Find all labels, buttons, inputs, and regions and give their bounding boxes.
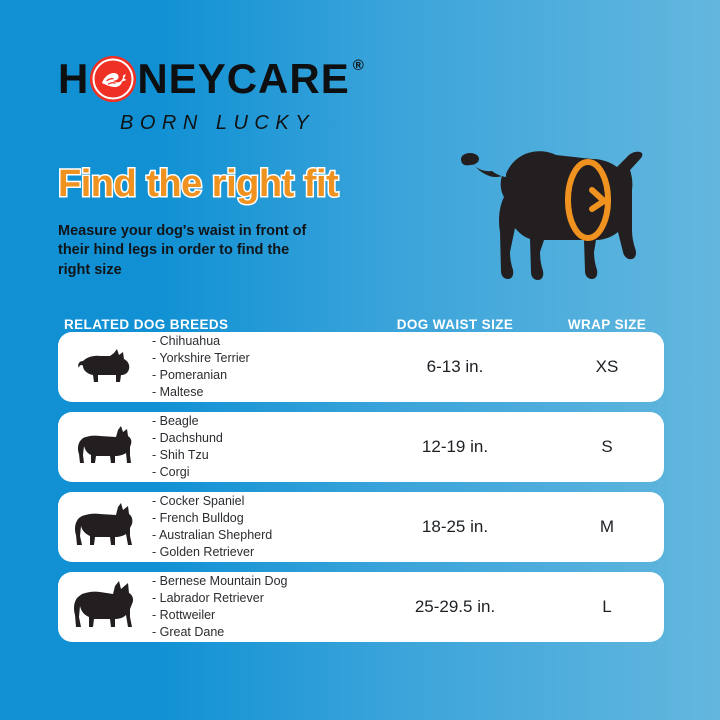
column-header-waist: DOG WAIST SIZE (360, 317, 550, 332)
waist-size-value: 6-13 in. (360, 357, 550, 377)
breed-item: - Chihuahua (152, 333, 360, 350)
breed-item: - Golden Retriever (152, 544, 360, 561)
breed-item: - Great Dane (152, 624, 360, 641)
waist-size-value: 18-25 in. (360, 517, 550, 537)
table-row[interactable]: - Bernese Mountain Dog - Labrador Retrie… (58, 572, 664, 642)
page-title: Find the right fit (58, 163, 338, 206)
table-header-row: RELATED DOG BREEDS DOG WAIST SIZE WRAP S… (58, 300, 664, 332)
brand-wordmark: H NEYCARE ® (58, 56, 458, 102)
breed-item: - Maltese (152, 384, 360, 401)
breed-item: - French Bulldog (152, 510, 360, 527)
breed-item: - Yorkshire Terrier (152, 350, 360, 367)
medium-dog-silhouette-icon (58, 492, 150, 562)
size-chart-table: RELATED DOG BREEDS DOG WAIST SIZE WRAP S… (58, 300, 664, 652)
registered-trademark-icon: ® (353, 58, 364, 73)
medium-small-dog-silhouette-icon (58, 412, 150, 482)
breed-item: - Corgi (152, 464, 360, 481)
hero-dog-illustration (452, 112, 672, 292)
breed-list: - Beagle - Dachshund - Shih Tzu - Corgi (150, 413, 360, 482)
breed-item: - Australian Shepherd (152, 527, 360, 544)
breed-list: - Bernese Mountain Dog - Labrador Retrie… (150, 573, 360, 642)
breed-item: - Cocker Spaniel (152, 493, 360, 510)
brand-logo-block: H NEYCARE ® BORN LUCKY (58, 56, 458, 135)
breed-item: - Bernese Mountain Dog (152, 573, 360, 590)
table-row[interactable]: - Chihuahua - Yorkshire Terrier - Pomera… (58, 332, 664, 402)
column-header-wrap: WRAP SIZE (550, 317, 664, 332)
wrap-size-value: XS (550, 357, 664, 377)
breed-list: - Cocker Spaniel - French Bulldog - Aust… (150, 493, 360, 562)
breed-item: - Labrador Retriever (152, 590, 360, 607)
honeycare-o-logo-icon (90, 56, 136, 102)
breed-item: - Rottweiler (152, 607, 360, 624)
table-row[interactable]: - Cocker Spaniel - French Bulldog - Aust… (58, 492, 664, 562)
breed-list: - Chihuahua - Yorkshire Terrier - Pomera… (150, 333, 360, 402)
dog-silhouette-shape (461, 151, 642, 280)
wordmark-part-2: NEYCARE (137, 56, 349, 102)
wrap-size-value: M (550, 517, 664, 537)
breed-item: - Shih Tzu (152, 447, 360, 464)
breed-item: - Dachshund (152, 430, 360, 447)
breed-item: - Beagle (152, 413, 360, 430)
wrap-size-value: L (550, 597, 664, 617)
table-row[interactable]: - Beagle - Dachshund - Shih Tzu - Corgi … (58, 412, 664, 482)
page-subtitle: Measure your dog's waist in front of the… (58, 222, 318, 280)
small-dog-silhouette-icon (58, 332, 150, 402)
waist-size-value: 12-19 in. (360, 437, 550, 457)
wrap-size-value: S (550, 437, 664, 457)
wordmark-part-1: H (58, 56, 89, 102)
breed-item: - Pomeranian (152, 367, 360, 384)
waist-size-value: 25-29.5 in. (360, 597, 550, 617)
column-header-breeds: RELATED DOG BREEDS (58, 317, 360, 332)
large-dog-silhouette-icon (58, 572, 150, 642)
brand-tagline: BORN LUCKY (58, 112, 458, 135)
